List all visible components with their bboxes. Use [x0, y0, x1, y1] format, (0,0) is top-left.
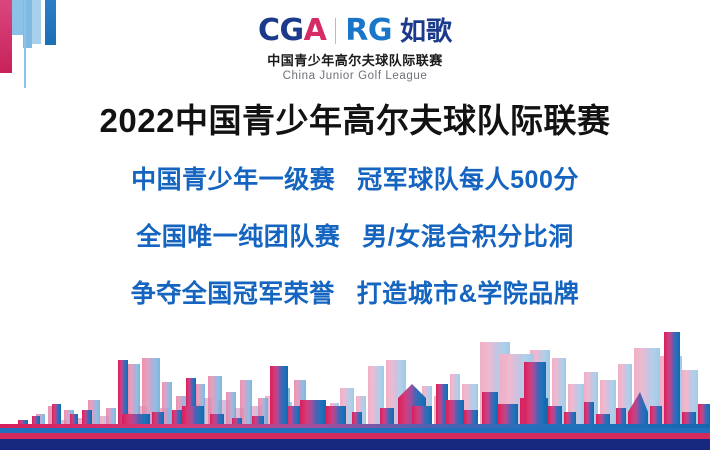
logo-english-name: China Junior Golf League	[0, 70, 710, 82]
feature-line: 中国青少年一级赛冠军球队每人500分	[0, 160, 710, 196]
ruge-wordmark: 如歌	[400, 16, 452, 46]
city-skyline-illustration	[0, 288, 710, 428]
logo-chinese-name: 中国青少年高尔夫球队际联赛	[0, 50, 710, 69]
feature-line: 全国唯一纯团队赛男/女混合积分比洞	[0, 217, 710, 253]
feature-line-right: 冠军球队每人500分	[357, 166, 579, 194]
logo-lockup: CGA RG 如歌 中国青少年高尔夫球队际联赛 China Junior Gol…	[0, 16, 710, 82]
feature-line-left: 全国唯一纯团队赛	[136, 223, 340, 251]
cga-cg-text: CG	[258, 13, 304, 48]
logo-wordmark-row: CGA RG 如歌	[0, 16, 710, 46]
cga-a-text: A	[304, 13, 327, 48]
stripe-navy	[0, 439, 710, 450]
logo-divider	[335, 18, 336, 44]
feature-line-right: 男/女混合积分比洞	[362, 223, 573, 251]
bottom-stripe-group	[0, 428, 710, 450]
page-title: 2022中国青少年高尔夫球队际联赛	[0, 94, 710, 142]
feature-line-left: 中国青少年一级赛	[131, 166, 335, 194]
rg-wordmark: RG	[345, 16, 392, 46]
cga-wordmark: CGA	[258, 16, 326, 46]
poster-canvas: CGA RG 如歌 中国青少年高尔夫球队际联赛 China Junior Gol…	[0, 0, 710, 450]
